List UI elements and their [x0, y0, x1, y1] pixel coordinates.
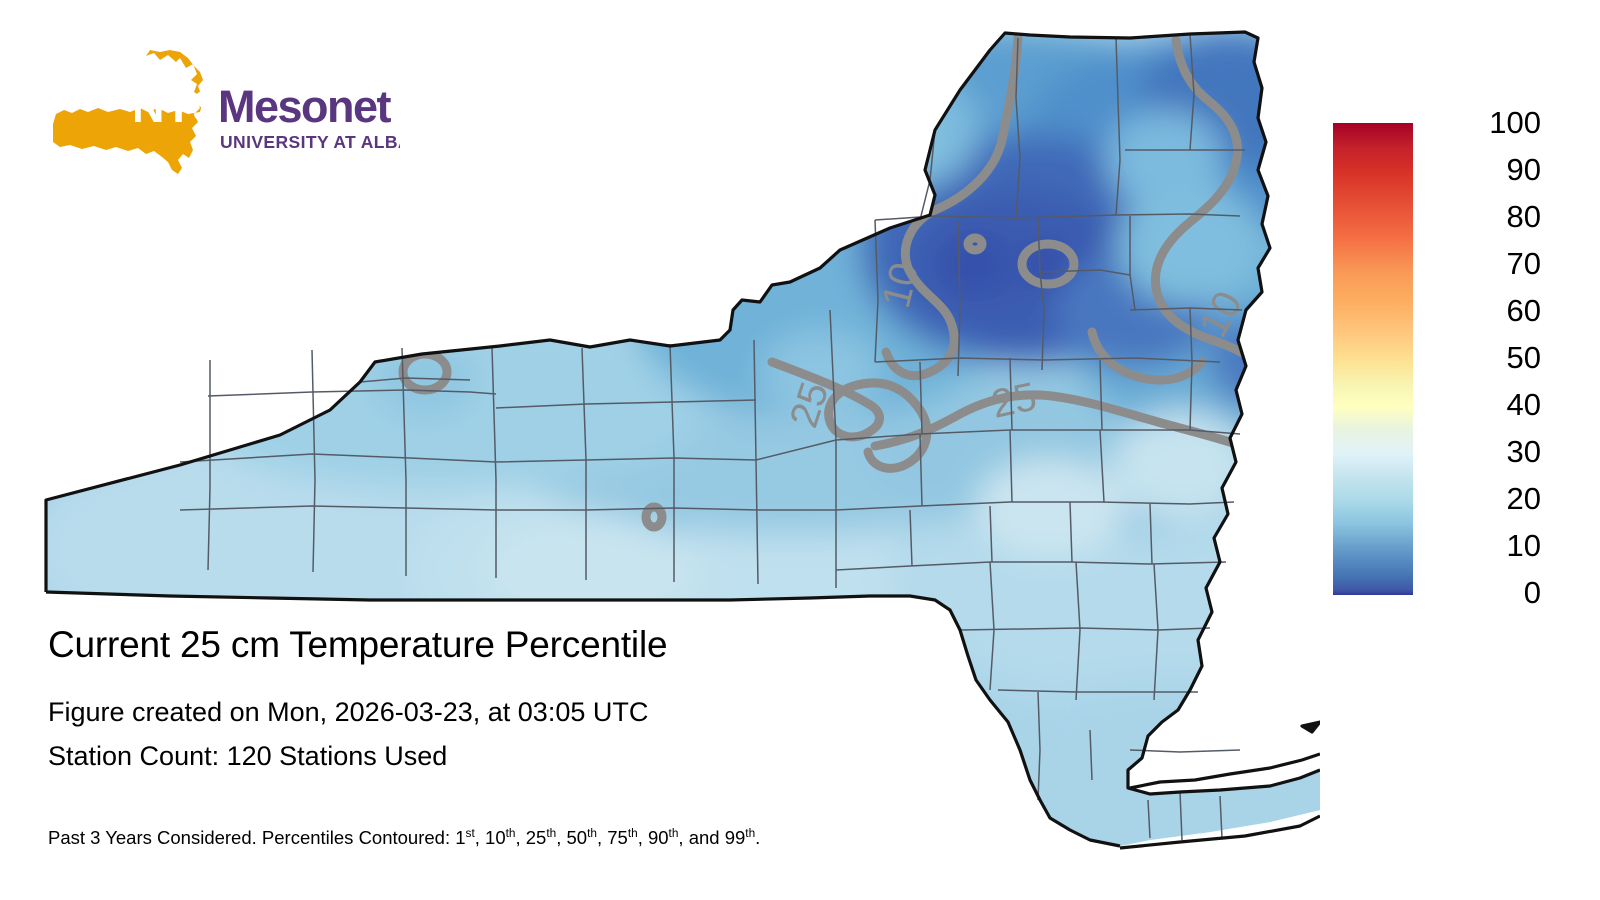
- field-blob: [480, 515, 700, 625]
- footnote-ordinal-suffix: th: [506, 826, 516, 840]
- footnote-ordinal: 75: [607, 827, 628, 848]
- colorbar-tick: 90: [1421, 148, 1541, 192]
- offshore-island: [1302, 722, 1320, 732]
- caption-block: Current 25 cm Temperature Percentile Fig…: [48, 620, 1098, 778]
- footnote-ordinal: 90: [648, 827, 669, 848]
- footnote-prefix: Past 3 Years Considered. Percentiles Con…: [48, 827, 455, 848]
- colorbar-tick: 30: [1421, 430, 1541, 474]
- colorbar-tick: 60: [1421, 289, 1541, 333]
- colorbar-tick: 50: [1421, 336, 1541, 380]
- footnote-ordinal: 50: [567, 827, 588, 848]
- footnote-ordinals: 1st, 10th, 25th, 50th, 75th, 90th, and 9…: [455, 827, 755, 848]
- colorbar-tick: 10: [1421, 524, 1541, 568]
- contour-25: [1270, 438, 1298, 480]
- footnote-ordinal: 1: [455, 827, 465, 848]
- footnote-ordinal-suffix: th: [745, 826, 755, 840]
- footnote-ordinal-suffix: th: [669, 826, 679, 840]
- colorbar: 100 90 80 70 60 50 40 30 20 10 0: [1333, 123, 1573, 598]
- footnote-ordinal: 99: [725, 827, 746, 848]
- colorbar-tick: 0: [1421, 571, 1541, 615]
- footnote-text: Past 3 Years Considered. Percentiles Con…: [48, 826, 760, 849]
- figure-created-text: Figure created on Mon, 2026-03-23, at 03…: [48, 690, 1098, 734]
- footnote-tail: .: [755, 827, 760, 848]
- colorbar-tick: 40: [1421, 383, 1541, 427]
- colorbar-tick-labels: 100 90 80 70 60 50 40 30 20 10 0: [1421, 101, 1556, 617]
- contour-label: 25: [988, 375, 1041, 427]
- footnote-ordinal: 25: [526, 827, 547, 848]
- colorbar-tick: 80: [1421, 195, 1541, 239]
- footnote-ordinal-suffix: st: [466, 826, 475, 840]
- county-line: [1130, 750, 1240, 752]
- contour-10-closed: [1251, 341, 1269, 363]
- footnote-ordinal-suffix: th: [587, 826, 597, 840]
- colorbar-tick: 20: [1421, 477, 1541, 521]
- field-blob: [1117, 185, 1267, 305]
- page-title: Current 25 cm Temperature Percentile: [48, 620, 1098, 670]
- colorbar-tick: 100: [1421, 101, 1541, 145]
- colorbar-tick: 70: [1421, 242, 1541, 286]
- footnote-ordinal-suffix: th: [628, 826, 638, 840]
- colorbar-gradient: [1333, 123, 1413, 595]
- footnote-ordinal-suffix: th: [546, 826, 556, 840]
- footnote-ordinal: 10: [485, 827, 506, 848]
- station-count-text: Station Count: 120 Stations Used: [48, 734, 1098, 778]
- field-blob-core: [940, 237, 1010, 293]
- field-blob: [850, 108, 930, 168]
- field-blob: [790, 65, 980, 195]
